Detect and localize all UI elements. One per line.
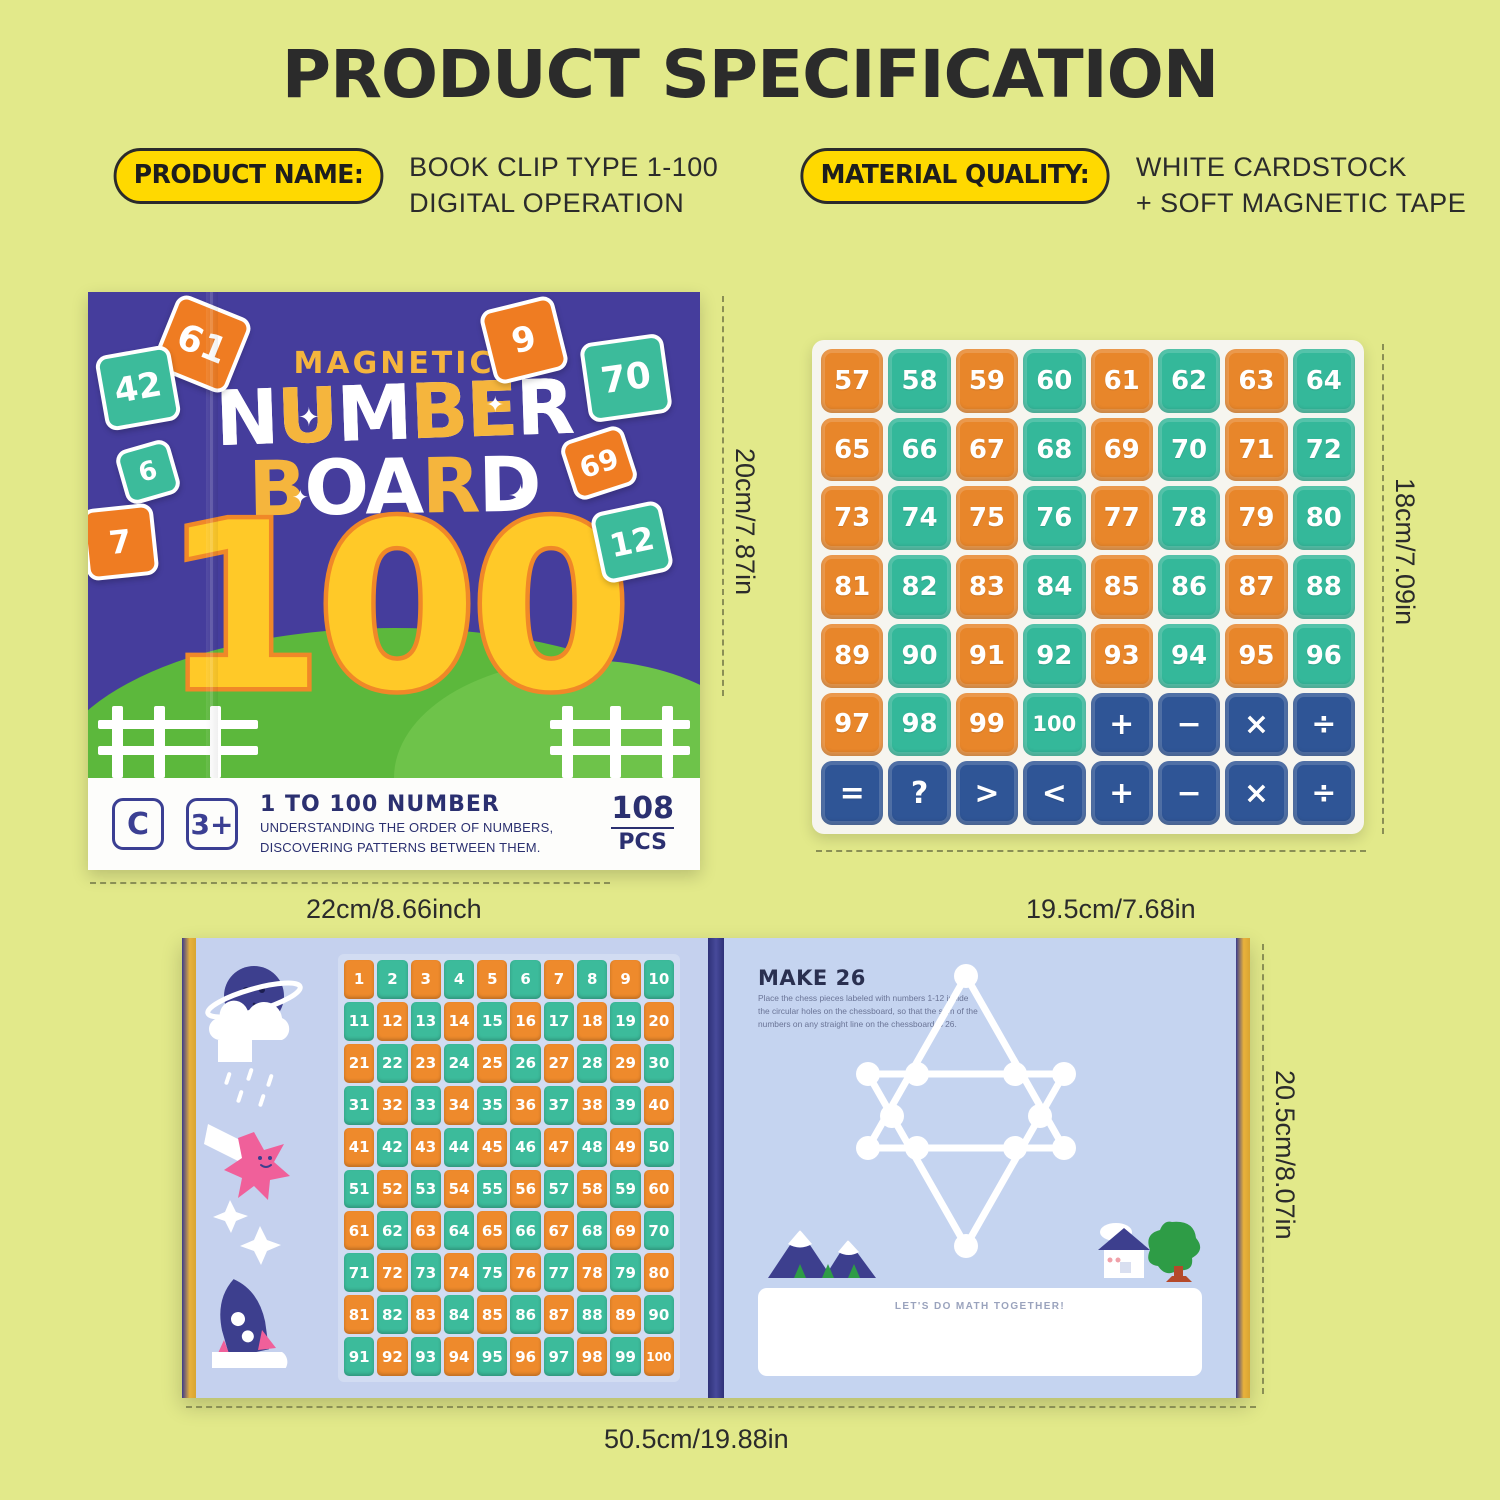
tile-sheet-cell[interactable]: 87: [1225, 555, 1287, 619]
book-grid-cell[interactable]: 4: [444, 960, 474, 999]
tile-sheet-cell[interactable]: 62: [1158, 349, 1220, 413]
tile-sheet: 5758596061626364656667686970717273747576…: [812, 340, 1364, 834]
book-grid-cell[interactable]: 67: [544, 1211, 574, 1250]
book-grid-cell[interactable]: 24: [444, 1044, 474, 1083]
tile-sheet-cell[interactable]: 68: [1023, 418, 1085, 482]
book-grid-cell[interactable]: 45: [477, 1128, 507, 1167]
book-grid-cell[interactable]: 2: [377, 960, 407, 999]
book-grid-cell[interactable]: 97: [544, 1337, 574, 1376]
book-grid-cell[interactable]: 40: [644, 1086, 674, 1125]
book-grid-cell[interactable]: 52: [377, 1170, 407, 1209]
book-grid-cell[interactable]: 12: [377, 1002, 407, 1041]
mountain-icon: [766, 1222, 882, 1280]
book-grid-cell[interactable]: 30: [644, 1044, 674, 1083]
sheet-dim-guide-v: [1382, 344, 1384, 834]
spec-label-material-quality: MATERIAL QUALITY:: [800, 148, 1109, 204]
product-name-line-2: DIGITAL OPERATION: [409, 186, 718, 222]
book-grid-cell[interactable]: 87: [544, 1295, 574, 1334]
tile-sheet-cell[interactable]: 57: [821, 349, 883, 413]
tile-sheet-cell[interactable]: 78: [1158, 486, 1220, 550]
scatter-tile-label: 61: [171, 316, 233, 373]
scatter-tile-label: 6: [135, 455, 161, 489]
book-dim-guide-h: [186, 1406, 1256, 1408]
page-title: PRODUCT SPECIFICATION: [0, 36, 1500, 113]
scatter-tile-7: 7: [88, 502, 160, 581]
tile-sheet-cell[interactable]: 86: [1158, 555, 1220, 619]
tile-sheet-cell[interactable]: 83: [956, 555, 1018, 619]
book-grid-cell[interactable]: 91: [344, 1337, 374, 1376]
box-width-label: 22cm/8.66inch: [306, 894, 482, 925]
book-grid-cell[interactable]: 81: [344, 1295, 374, 1334]
scatter-tile-label: 9: [508, 318, 541, 363]
book-grid-cell[interactable]: 95: [477, 1337, 507, 1376]
book-grid-cell[interactable]: 56: [510, 1170, 540, 1209]
sparkle-icon-2: ✦: [486, 394, 504, 416]
book-grid-cell[interactable]: 78: [577, 1253, 607, 1292]
tile-sheet-cell[interactable]: 91: [956, 624, 1018, 688]
book-grid-cell[interactable]: 70: [644, 1211, 674, 1250]
scatter-tile-42: 42: [94, 344, 182, 432]
book-grid-cell[interactable]: 35: [477, 1086, 507, 1125]
book-grid-cell[interactable]: 77: [544, 1253, 574, 1292]
book-grid-cell[interactable]: 37: [544, 1086, 574, 1125]
tile-sheet-cell[interactable]: 99: [956, 693, 1018, 757]
rocket-icon: [212, 1275, 287, 1368]
book-grid-cell[interactable]: 5: [477, 960, 507, 999]
tile-sheet-cell[interactable]: ×: [1225, 761, 1287, 825]
book-grid-cell[interactable]: 10: [644, 960, 674, 999]
tile-sheet-cell[interactable]: 64: [1293, 349, 1355, 413]
book-width-label: 50.5cm/19.88in: [604, 1424, 789, 1455]
book-grid-cell[interactable]: 57: [544, 1170, 574, 1209]
tile-sheet-cell[interactable]: 73: [821, 486, 883, 550]
book-grid-cell[interactable]: 26: [510, 1044, 540, 1083]
product-box-cover: MAGNETIC NUMBER BOARD ✦ ✦ ✦ ✦ ✦ 100 61 4…: [88, 292, 700, 870]
tile-sheet-cell[interactable]: 72: [1293, 418, 1355, 482]
book-grid-cell[interactable]: 7: [544, 960, 574, 999]
book-grid-cell[interactable]: 53: [411, 1170, 441, 1209]
book-grid-cell[interactable]: 47: [544, 1128, 574, 1167]
book-grid-cell[interactable]: 48: [577, 1128, 607, 1167]
book-grid-cell[interactable]: 54: [444, 1170, 474, 1209]
tile-sheet-cell[interactable]: 89: [821, 624, 883, 688]
age-badge: 3+: [186, 798, 238, 850]
book-left-page: 1234567891011121314151617181920212223242…: [196, 938, 708, 1398]
book-grid-cell[interactable]: 61: [344, 1211, 374, 1250]
open-book: 1234567891011121314151617181920212223242…: [182, 938, 1250, 1398]
spec-row: PRODUCT NAME: BOOK CLIP TYPE 1-100 DIGIT…: [108, 148, 1398, 238]
space-art-sidebar: [204, 948, 312, 1388]
book-grid-cell[interactable]: 3: [411, 960, 441, 999]
book-grid-cell[interactable]: 21: [344, 1044, 374, 1083]
tile-sheet-cell[interactable]: 81: [821, 555, 883, 619]
book-grid-cell[interactable]: 36: [510, 1086, 540, 1125]
book-grid-cell[interactable]: 11: [344, 1002, 374, 1041]
book-grid-cell[interactable]: 73: [411, 1253, 441, 1292]
product-name-line-1: BOOK CLIP TYPE 1-100: [409, 150, 718, 186]
comet-star-icon: [204, 1124, 290, 1200]
spec-value-product-name: BOOK CLIP TYPE 1-100 DIGITAL OPERATION: [409, 150, 718, 221]
book-grid-cell[interactable]: 25: [477, 1044, 507, 1083]
book-grid-cell[interactable]: 69: [610, 1211, 640, 1250]
tile-sheet-cell[interactable]: 100: [1023, 693, 1085, 757]
tile-sheet-cell[interactable]: 93: [1091, 624, 1153, 688]
tile-sheet-cell[interactable]: <: [1023, 761, 1085, 825]
spec-label-product-name: PRODUCT NAME:: [114, 148, 384, 204]
tile-sheet-cell[interactable]: 84: [1023, 555, 1085, 619]
tile-sheet-cell[interactable]: 58: [888, 349, 950, 413]
book-grid-cell[interactable]: 29: [610, 1044, 640, 1083]
sheet-dim-guide-h: [816, 850, 1366, 852]
house-icon: [1094, 1216, 1202, 1286]
book-grid-cell[interactable]: 19: [610, 1002, 640, 1041]
tile-sheet-cell[interactable]: −: [1158, 693, 1220, 757]
book-grid-cell[interactable]: 6: [510, 960, 540, 999]
scatter-tile-label: 70: [598, 354, 653, 402]
book-edge-right: [1236, 938, 1250, 1398]
book-right-page: MAKE 26 Place the chess pieces labeled w…: [724, 938, 1236, 1398]
book-grid-cell[interactable]: 1: [344, 960, 374, 999]
book-grid-cell[interactable]: 83: [411, 1295, 441, 1334]
tile-sheet-cell[interactable]: ×: [1225, 693, 1287, 757]
tile-sheet-grid: 5758596061626364656667686970717273747576…: [812, 340, 1364, 834]
footer-sub-line-1: UNDERSTANDING THE ORDER OF NUMBERS,: [260, 820, 611, 836]
pieces-label: PCS: [611, 832, 674, 854]
book-grid-cell[interactable]: 99: [610, 1337, 640, 1376]
book-grid-cell[interactable]: 92: [377, 1337, 407, 1376]
tile-sheet-cell[interactable]: 98: [888, 693, 950, 757]
tile-sheet-cell[interactable]: 90: [888, 624, 950, 688]
book-grid-cell[interactable]: 64: [444, 1211, 474, 1250]
book-grid-cell[interactable]: 74: [444, 1253, 474, 1292]
book-grid-cell[interactable]: 62: [377, 1211, 407, 1250]
book-grid-cell[interactable]: 93: [411, 1337, 441, 1376]
book-grid-cell[interactable]: 28: [577, 1044, 607, 1083]
scatter-tile-label: 12: [606, 519, 657, 565]
tile-sheet-cell[interactable]: 95: [1225, 624, 1287, 688]
spec-product-name: PRODUCT NAME: BOOK CLIP TYPE 1-100 DIGIT…: [108, 148, 718, 221]
tile-sheet-cell[interactable]: +: [1091, 693, 1153, 757]
tile-sheet-cell[interactable]: 76: [1023, 486, 1085, 550]
tile-sheet-cell[interactable]: =: [821, 761, 883, 825]
spec-value-material-quality: WHITE CARDSTOCK + SOFT MAGNETIC TAPE: [1136, 150, 1466, 221]
product-box: MAGNETIC NUMBER BOARD ✦ ✦ ✦ ✦ ✦ 100 61 4…: [88, 292, 700, 870]
book-grid-cell[interactable]: 15: [477, 1002, 507, 1041]
tile-sheet-cell[interactable]: 94: [1158, 624, 1220, 688]
tile-sheet-cell[interactable]: 61: [1091, 349, 1153, 413]
book-grid-cell[interactable]: 23: [411, 1044, 441, 1083]
scatter-tile-70: 70: [579, 333, 673, 424]
book-grid-cell[interactable]: 33: [411, 1086, 441, 1125]
book-grid-cell[interactable]: 49: [610, 1128, 640, 1167]
box-footer-description: 1 TO 100 NUMBER UNDERSTANDING THE ORDER …: [260, 792, 611, 856]
book-grid-cell[interactable]: 65: [477, 1211, 507, 1250]
tile-sheet-cell[interactable]: 65: [821, 418, 883, 482]
book-grid-cell[interactable]: 80: [644, 1253, 674, 1292]
book-spine: [708, 938, 724, 1398]
book-grid-cell[interactable]: 20: [644, 1002, 674, 1041]
star-peg-board: [816, 958, 1116, 1263]
book-grid-cell[interactable]: 42: [377, 1128, 407, 1167]
tile-sheet-cell[interactable]: 77: [1091, 486, 1153, 550]
book-grid-cell[interactable]: 88: [577, 1295, 607, 1334]
tile-sheet-cell[interactable]: ÷: [1293, 693, 1355, 757]
book-grid-cell[interactable]: 94: [444, 1337, 474, 1376]
book-grid-cell[interactable]: 72: [377, 1253, 407, 1292]
tile-sheet-cell[interactable]: 59: [956, 349, 1018, 413]
book-grid-cell[interactable]: 59: [610, 1170, 640, 1209]
tile-sheet-cell[interactable]: 80: [1293, 486, 1355, 550]
tile-sheet-cell[interactable]: 88: [1293, 555, 1355, 619]
book-grid-cell[interactable]: 68: [577, 1211, 607, 1250]
tile-sheet-cell[interactable]: 66: [888, 418, 950, 482]
book-grid-cell[interactable]: 27: [544, 1044, 574, 1083]
book-grid-cell[interactable]: 13: [411, 1002, 441, 1041]
book-grid-cell[interactable]: 46: [510, 1128, 540, 1167]
tile-sheet-cell[interactable]: 63: [1225, 349, 1287, 413]
box-height-label: 20cm/7.87in: [729, 448, 760, 595]
tile-sheet-cell[interactable]: 69: [1091, 418, 1153, 482]
book-grid-cell[interactable]: 63: [411, 1211, 441, 1250]
book-grid-cell[interactable]: 75: [477, 1253, 507, 1292]
tile-sheet-cell[interactable]: 97: [821, 693, 883, 757]
tile-sheet-cell[interactable]: 74: [888, 486, 950, 550]
book-grid-cell[interactable]: 82: [377, 1295, 407, 1334]
book-spread: 1234567891011121314151617181920212223242…: [182, 938, 1250, 1398]
book-height-label: 20.5cm/8.07in: [1269, 1070, 1300, 1240]
book-grid-cell[interactable]: 66: [510, 1211, 540, 1250]
book-grid-cell[interactable]: 58: [577, 1170, 607, 1209]
book-grid-cell[interactable]: 86: [510, 1295, 540, 1334]
book-dim-guide-v: [1262, 944, 1264, 1394]
book-grid-cell[interactable]: 14: [444, 1002, 474, 1041]
book-grid-cell[interactable]: 71: [344, 1253, 374, 1292]
scatter-tile-label: 7: [107, 522, 133, 562]
book-grid-cell[interactable]: 16: [510, 1002, 540, 1041]
book-grid-cell[interactable]: 60: [644, 1170, 674, 1209]
tile-sheet-cell[interactable]: 82: [888, 555, 950, 619]
tile-sheet-cell[interactable]: 75: [956, 486, 1018, 550]
book-grid-cell[interactable]: 17: [544, 1002, 574, 1041]
sheet-height-label: 18cm/7.09in: [1389, 478, 1420, 625]
tile-sheet-cell[interactable]: 71: [1225, 418, 1287, 482]
tile-sheet-cell[interactable]: 96: [1293, 624, 1355, 688]
answer-box[interactable]: LET'S DO MATH TOGETHER!: [758, 1288, 1202, 1376]
book-grid-cell[interactable]: 55: [477, 1170, 507, 1209]
sheet-width-label: 19.5cm/7.68in: [1026, 894, 1196, 925]
tile-sheet-cell[interactable]: 70: [1158, 418, 1220, 482]
footer-sub-line-2: DISCOVERING PATTERNS BETWEEN THEM.: [260, 840, 611, 856]
magnet-badge-icon: C: [112, 798, 164, 850]
book-number-grid: 1234567891011121314151617181920212223242…: [338, 954, 680, 1382]
tile-sheet-cell[interactable]: 79: [1225, 486, 1287, 550]
material-quality-line-2: + SOFT MAGNETIC TAPE: [1136, 186, 1466, 222]
pieces-count-badge: 108 PCS: [611, 794, 674, 854]
footer-headline: 1 TO 100 NUMBER: [260, 792, 611, 817]
book-grid-cell[interactable]: 39: [610, 1086, 640, 1125]
sparkle-icon-1: ✦: [298, 404, 320, 430]
box-dim-guide-h: [90, 882, 610, 884]
space-art-svg: [204, 948, 312, 1368]
box-footer: C 3+ 1 TO 100 NUMBER UNDERSTANDING THE O…: [88, 778, 700, 870]
book-grid-cell[interactable]: 32: [377, 1086, 407, 1125]
tile-sheet-cell[interactable]: ÷: [1293, 761, 1355, 825]
box-dim-guide-v: [722, 296, 724, 696]
material-quality-line-1: WHITE CARDSTOCK: [1136, 150, 1466, 186]
book-grid-cell[interactable]: 89: [610, 1295, 640, 1334]
book-grid-cell[interactable]: 41: [344, 1128, 374, 1167]
book-grid-cell[interactable]: 34: [444, 1086, 474, 1125]
tile-sheet-cell[interactable]: +: [1091, 761, 1153, 825]
spec-material-quality: MATERIAL QUALITY: WHITE CARDSTOCK + SOFT…: [794, 148, 1466, 221]
book-grid-cell[interactable]: 79: [610, 1253, 640, 1292]
sparkle-star-icon: [213, 1200, 281, 1265]
book-grid-cell[interactable]: 96: [510, 1337, 540, 1376]
tile-sheet-cell[interactable]: >: [956, 761, 1018, 825]
book-grid-cell[interactable]: 44: [444, 1128, 474, 1167]
book-grid-cell[interactable]: 76: [510, 1253, 540, 1292]
book-grid-cell[interactable]: 84: [444, 1295, 474, 1334]
pieces-count: 108: [611, 794, 674, 824]
tile-sheet-cell[interactable]: 85: [1091, 555, 1153, 619]
tile-sheet-cell[interactable]: ?: [888, 761, 950, 825]
tile-sheet-cell[interactable]: 92: [1023, 624, 1085, 688]
book-grid-cell[interactable]: 100: [644, 1337, 674, 1376]
book-grid-cell[interactable]: 85: [477, 1295, 507, 1334]
book-grid-cell[interactable]: 18: [577, 1002, 607, 1041]
book-grid-cell[interactable]: 8: [577, 960, 607, 999]
scatter-tile-label: 69: [575, 441, 622, 484]
book-grid-cell[interactable]: 31: [344, 1086, 374, 1125]
answer-box-label: LET'S DO MATH TOGETHER!: [758, 1301, 1202, 1312]
tree-icon: [1148, 1222, 1200, 1282]
book-grid-cell[interactable]: 51: [344, 1170, 374, 1209]
book-grid-cell[interactable]: 9: [610, 960, 640, 999]
scatter-tile-label: 42: [111, 364, 165, 412]
tile-sheet-cell[interactable]: 60: [1023, 349, 1085, 413]
book-grid-cell[interactable]: 38: [577, 1086, 607, 1125]
tile-sheet-cell[interactable]: 67: [956, 418, 1018, 482]
book-grid-cell[interactable]: 98: [577, 1337, 607, 1376]
book-grid-cell[interactable]: 50: [644, 1128, 674, 1167]
book-edge-left: [182, 938, 196, 1398]
tile-sheet-cell[interactable]: −: [1158, 761, 1220, 825]
book-grid-cell[interactable]: 43: [411, 1128, 441, 1167]
book-grid-cell[interactable]: 22: [377, 1044, 407, 1083]
rain-cloud-icon: [209, 1001, 289, 1108]
book-grid-cell[interactable]: 90: [644, 1295, 674, 1334]
scatter-tile-12: 12: [589, 499, 674, 584]
